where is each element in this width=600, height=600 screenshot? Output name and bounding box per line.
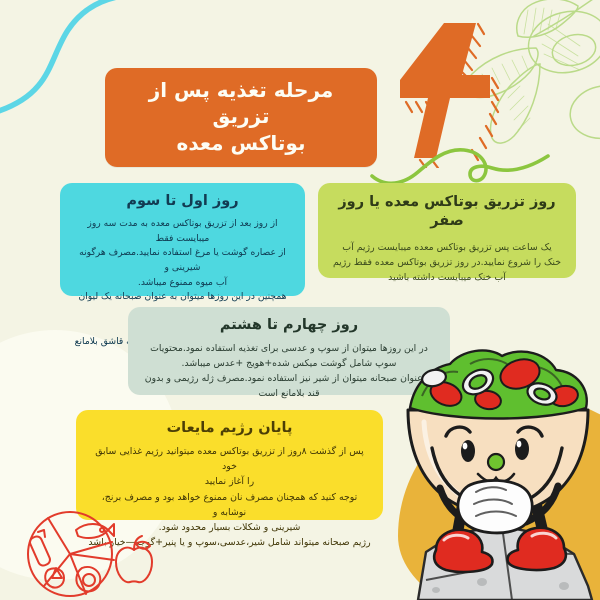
- olive-branch-icon: [428, 0, 600, 180]
- salad-contents: [410, 350, 587, 418]
- card-end-of-liquid-diet-line: را آغاز نمایید: [88, 474, 371, 489]
- page-title: مرحله تغذیه پس از تزریق بوتاکس معده: [105, 68, 377, 167]
- salad-bowl-mascot: [392, 338, 600, 600]
- card-day-one-to-three-heading: روز اول تا سوم: [71, 192, 294, 211]
- card-day-zero[interactable]: روز تزریق بوتاکس معده یا روز صفر یک ساعت…: [318, 183, 576, 278]
- infographic-canvas: مرحله تغذیه پس از تزریق بوتاکس معده روز …: [0, 0, 600, 600]
- card-end-of-liquid-diet-line: شیرینی و شکلات بسیار محدود شود.: [88, 520, 371, 535]
- card-end-of-liquid-diet-line: توجه کنید که همچنان مصرف نان ممنوع خواهد…: [88, 490, 371, 520]
- gloved-hands: [458, 480, 532, 533]
- card-end-of-liquid-diet-line: پس از گذشت ۸روز از تزریق بوتاکس معده میت…: [88, 444, 371, 474]
- card-day-zero-line: آب خنک میبایست داشته باشید: [330, 270, 564, 285]
- card-end-of-liquid-diet[interactable]: پایان رژیم مایعات پس از گذشت ۸روز از تزر…: [76, 410, 383, 520]
- page-title-line-2: بوتاکس معده: [121, 130, 361, 156]
- card-day-one-to-three-line: از روز بعد از تزریق بوتاکس معده به مدت س…: [71, 217, 294, 246]
- card-day-one-to-three-line: از عصاره گوشت یا مرغ استفاده نمایید.مصرف…: [71, 246, 294, 275]
- card-day-one-to-three-line: آب میوه ممنوع میباشد.: [71, 276, 294, 291]
- card-end-of-liquid-diet-heading: پایان رژیم مایعات: [88, 419, 371, 438]
- card-end-of-liquid-diet-body: پس از گذشت ۸روز از تزریق بوتاکس معده میت…: [88, 444, 371, 551]
- card-day-zero-line: یک ساعت پس تزریق بوتاکس معده میبایست رژی…: [330, 240, 564, 255]
- card-end-of-liquid-diet-line: رژیم صبحانه میتواند شامل شیر،عدسی،سوپ و …: [88, 535, 371, 550]
- card-day-zero-heading: روز تزریق بوتاکس معده یا روز صفر: [330, 193, 564, 231]
- card-day-zero-line: خنک را شروع نمایید.در روز تزریق بوتاکس م…: [330, 255, 564, 270]
- card-day-zero-body: یک ساعت پس تزریق بوتاکس معده میبایست رژی…: [330, 240, 564, 286]
- green-vine-icon: [370, 120, 550, 190]
- card-day-one-to-three[interactable]: روز اول تا سوم از روز بعد از تزریق بوتاک…: [60, 183, 305, 296]
- page-title-line-1: مرحله تغذیه پس از تزریق: [121, 77, 361, 130]
- step-number-four: [392, 18, 512, 168]
- card-day-four-to-eight-heading: روز چهارم تا هشتم: [140, 316, 438, 335]
